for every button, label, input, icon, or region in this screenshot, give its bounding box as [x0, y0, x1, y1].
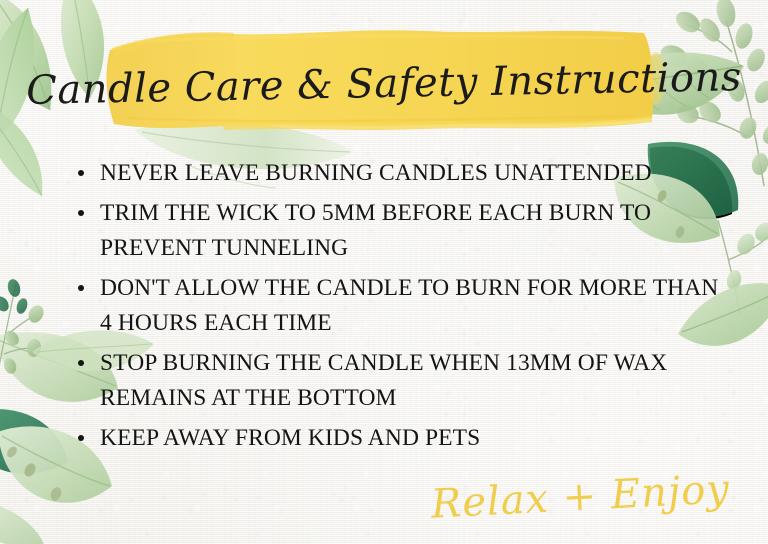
instruction-text: Don't allow the candle to burn for more …	[100, 275, 718, 336]
page-title: Candle Care & Safety Instructions	[103, 33, 665, 136]
instruction-list: Never leave burning candles unattendedTr…	[70, 156, 730, 461]
bullet-icon	[78, 210, 84, 216]
footer-script-text: Relax + Enjoy	[430, 466, 731, 528]
bullet-icon	[78, 285, 84, 291]
instruction-item: Keep away from kids and pets	[70, 421, 730, 456]
instruction-item: Trim the wick to 5mm before each burn to…	[70, 196, 730, 266]
instruction-text: Stop burning the candle when 13mm of wax…	[100, 350, 667, 411]
instruction-item: Never leave burning candles unattended	[70, 156, 730, 191]
bullet-icon	[78, 170, 84, 176]
instruction-text: Never leave burning candles unattended	[100, 160, 652, 186]
candle-care-card: Candle Care & Safety Instructions Never …	[0, 0, 768, 544]
bullet-icon	[78, 435, 84, 441]
instruction-text: Keep away from kids and pets	[100, 425, 480, 451]
instruction-text: Trim the wick to 5mm before each burn to…	[100, 200, 651, 261]
bullet-icon	[78, 360, 84, 366]
instruction-item: Stop burning the candle when 13mm of wax…	[70, 346, 730, 416]
instruction-item: Don't allow the candle to burn for more …	[70, 271, 730, 341]
